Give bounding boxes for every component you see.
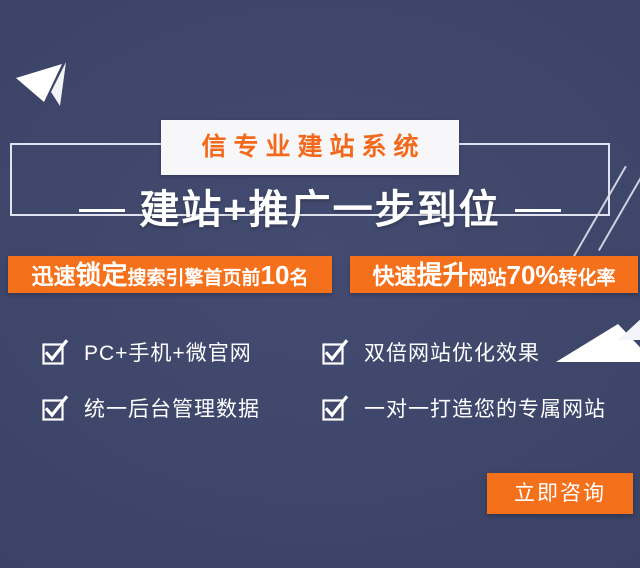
bar-suffix: 转化率 bbox=[559, 268, 616, 289]
bar-middle: 搜索引擎首页前 bbox=[128, 268, 261, 289]
checkbox-checked-icon bbox=[42, 397, 66, 421]
checkbox-checked-icon bbox=[42, 341, 66, 365]
bar-emphasis: 锁定 bbox=[76, 260, 128, 290]
bar-prefix: 快速 bbox=[372, 264, 416, 289]
feature-item-one-on-one: 一对一打造您的专属网站 bbox=[310, 397, 640, 421]
highlight-bar-seo-text: 迅速锁定搜索引擎首页前10名 bbox=[32, 262, 309, 288]
checkbox-checked-icon bbox=[322, 341, 346, 365]
bar-number: 10 bbox=[261, 260, 290, 290]
consult-now-button-label: 立即咨询 bbox=[514, 483, 606, 504]
feature-label: 统一后台管理数据 bbox=[84, 399, 260, 420]
label-box-text: 信专业建站系统 bbox=[194, 135, 425, 160]
feature-row: 统一后台管理数据 一对一打造您的专属网站 bbox=[0, 381, 640, 437]
feature-item-double-optimization: 双倍网站优化效果 bbox=[310, 341, 640, 365]
paper-plane-icon bbox=[14, 58, 104, 114]
label-box: 信专业建站系统 bbox=[161, 120, 459, 175]
bar-prefix: 迅速 bbox=[32, 264, 76, 289]
feature-item-unified-backend: 统一后台管理数据 bbox=[0, 397, 310, 421]
feature-item-pc-mobile-wechat: PC+手机+微官网 bbox=[0, 341, 310, 365]
bar-number: 70% bbox=[506, 260, 558, 290]
feature-label: PC+手机+微官网 bbox=[84, 343, 252, 364]
feature-list: PC+手机+微官网 双倍网站优化效果 bbox=[0, 325, 640, 437]
headline-dash-right bbox=[515, 209, 561, 212]
page-title: 建站+推广一步到位 bbox=[139, 190, 500, 230]
feature-row: PC+手机+微官网 双倍网站优化效果 bbox=[0, 325, 640, 381]
highlight-bar-conversion-text: 快速提升网站70%转化率 bbox=[372, 262, 615, 288]
bar-emphasis: 提升 bbox=[416, 260, 468, 290]
headline-dash-left bbox=[79, 209, 125, 212]
feature-label: 一对一打造您的专属网站 bbox=[364, 399, 606, 420]
feature-label: 双倍网站优化效果 bbox=[364, 343, 540, 364]
consult-now-button[interactable]: 立即咨询 bbox=[487, 473, 633, 514]
bar-suffix: 名 bbox=[289, 268, 308, 289]
headline-row: 建站+推广一步到位 bbox=[0, 180, 640, 240]
highlight-bar-conversion: 快速提升网站70%转化率 bbox=[350, 256, 638, 293]
highlight-bar-seo: 迅速锁定搜索引擎首页前10名 bbox=[8, 256, 332, 293]
promo-banner: 信专业建站系统 建站+推广一步到位 迅速锁定搜索引擎首页前10名 快速提升网站7… bbox=[0, 0, 640, 568]
checkbox-checked-icon bbox=[322, 397, 346, 421]
bar-middle: 网站 bbox=[468, 268, 506, 289]
